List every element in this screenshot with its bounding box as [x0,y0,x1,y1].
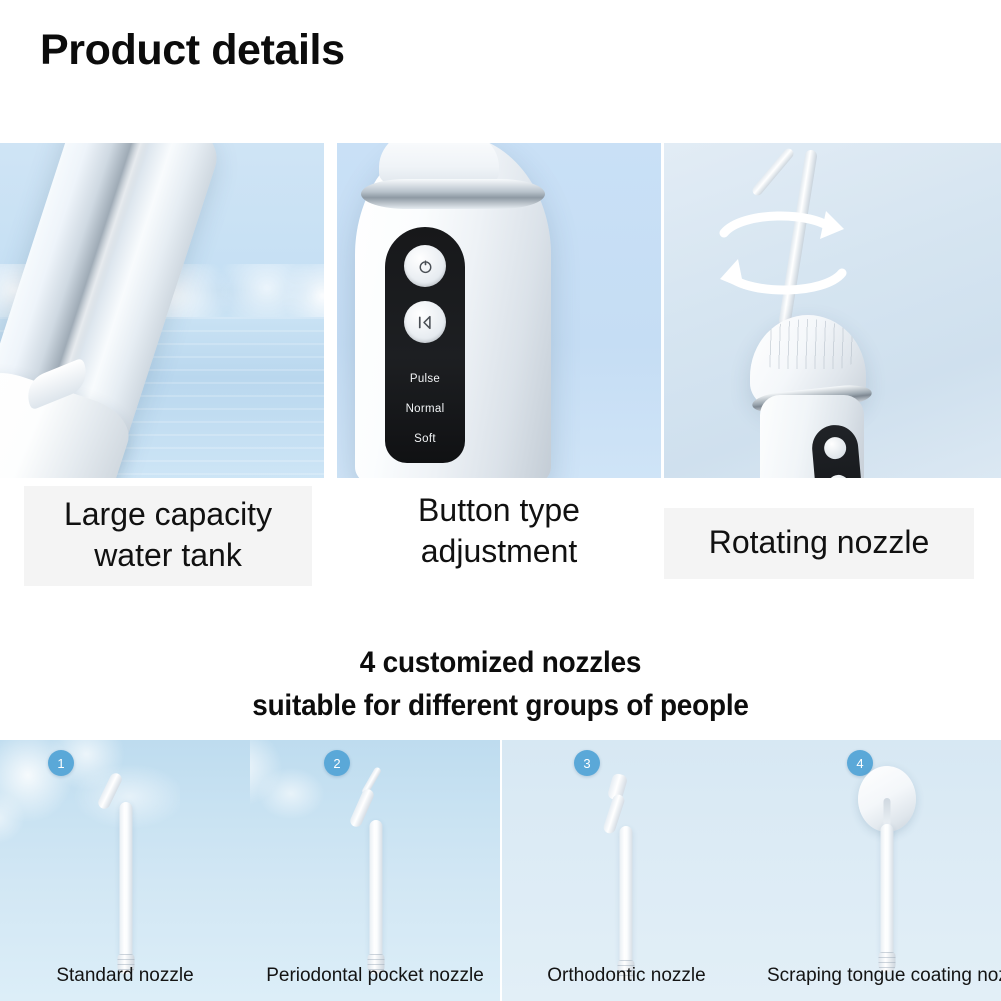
mode-label-normal: Normal [385,403,465,415]
page-title: Product details [40,26,345,75]
feature-image-button-controls: Pulse Normal Soft [337,143,661,478]
nozzle-section-headline: 4 customized nozzles suitable for differ… [35,642,966,727]
nozzle-label-orthodontic: Orthodontic nozzle [502,965,751,987]
headline-line-1: 4 customized nozzles [35,642,966,685]
mode-label-soft: Soft [385,433,465,445]
tongue-scraper-head [858,766,916,832]
caption-line-1: Button type [338,490,660,531]
caption-line-1: Rotating nozzle [664,522,974,563]
nozzle-shaft [370,820,383,960]
nozzle-graphic-orthodontic [566,774,686,972]
power-button-small[interactable] [823,436,847,460]
mode-button[interactable] [404,301,446,343]
nozzle-shaft [120,802,133,960]
nozzle-item-orthodontic: 3 Orthodontic nozzle [502,740,751,1001]
feature-image-rotating-nozzle [664,143,1001,478]
nozzle-shaft [881,824,894,958]
device-body: Pulse Normal Soft [355,143,551,478]
nozzle-label-standard: Standard nozzle [0,965,250,987]
power-icon [417,258,434,275]
feature-caption-button-type: Button type adjustment [338,482,660,582]
mode-button-small[interactable] [827,474,851,478]
nozzle-graphic-tongue-scraper [827,766,947,972]
product-details-page: Product details [0,0,1001,1001]
nozzle-gallery: 1 Standard nozzle 2 Periodontal pocket n… [0,740,1001,1001]
mode-label-pulse: Pulse [385,373,465,385]
nozzle-ridges [762,319,855,369]
nozzle-item-periodontal: 2 Periodontal pocket nozzle [250,740,500,1001]
feature-caption-water-tank: Large capacity water tank [24,486,312,586]
caption-line-1: Large capacity [24,494,312,535]
mode-icon [416,314,435,331]
nozzle-item-tongue-scraper: 4 Scraping tongue coating nozzle [751,740,1001,1001]
feature-caption-rotating-nozzle: Rotating nozzle [664,508,974,579]
nozzle-label-periodontal: Periodontal pocket nozzle [250,965,500,987]
feature-panel-row: Pulse Normal Soft [0,143,1001,478]
power-button[interactable] [404,245,446,287]
nozzle-shaft [620,826,633,966]
nozzle-graphic-standard [66,770,186,970]
caption-line-2: adjustment [338,531,660,572]
caption-line-2: water tank [24,535,312,576]
headline-line-2: suitable for different groups of people [35,685,966,728]
nozzle-graphic-periodontal [316,766,436,972]
feature-image-water-tank [0,143,324,478]
control-strip: Pulse Normal Soft [385,227,465,463]
device-chrome-ring [361,179,545,209]
nozzle-badge-3: 3 [574,750,600,776]
nozzle-label-tongue-scraper: Scraping tongue coating nozzle [767,965,1001,987]
nozzle-item-standard: 1 Standard nozzle [0,740,250,1001]
